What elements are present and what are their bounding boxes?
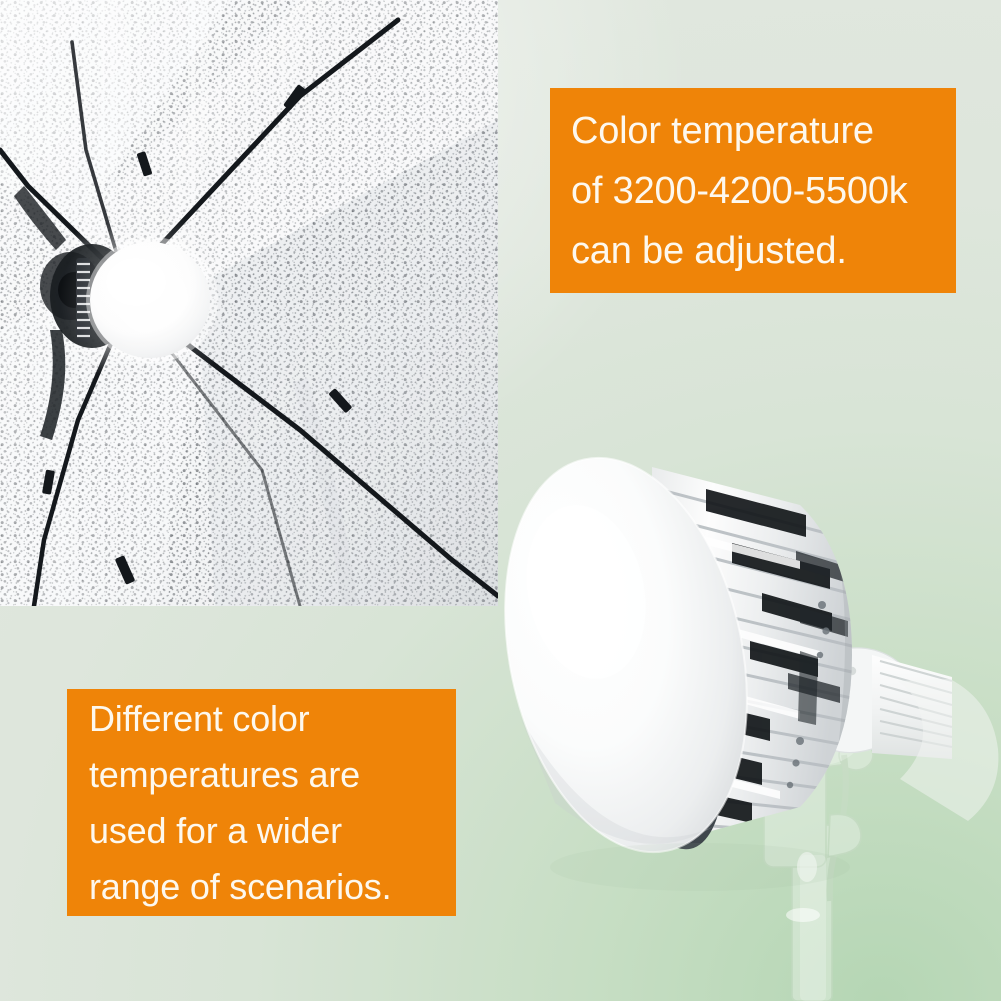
callout-line: can be adjusted. [571,221,956,281]
callout-color-temperature: Color temperature of 3200-4200-5500k can… [550,88,956,293]
callout-line: Color temperature [571,101,956,161]
product-feature-image: Color temperature of 3200-4200-5500k can… [0,0,1001,1001]
callout-line: range of scenarios. [89,859,456,915]
callout-line: Different color [89,691,456,747]
callout-line: of 3200-4200-5500k [571,161,956,221]
umbrella-photo [0,0,498,606]
led-lamp-photo [500,355,1001,1001]
callout-line: temperatures are [89,747,456,803]
callout-line: used for a wider [89,803,456,859]
callout-scenarios: Different color temperatures are used fo… [67,689,456,916]
